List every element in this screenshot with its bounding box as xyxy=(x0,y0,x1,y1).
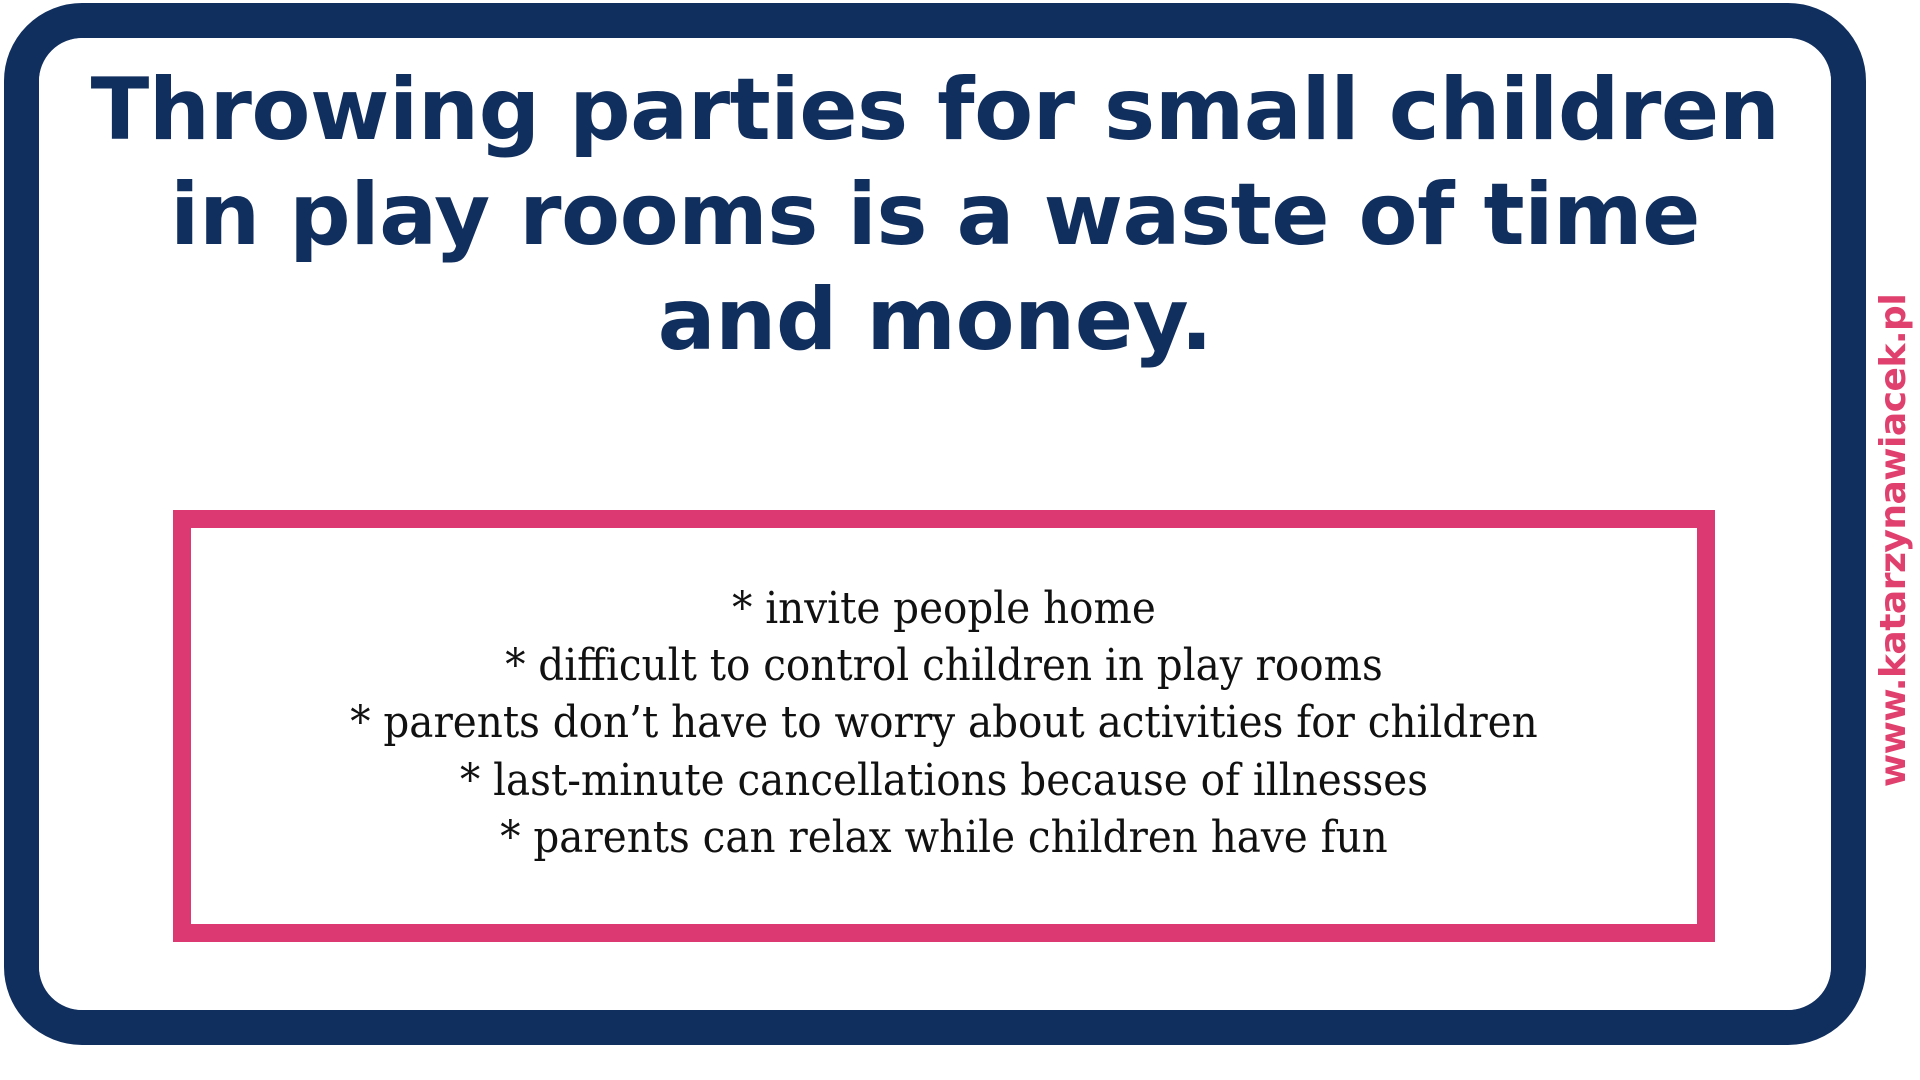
card-inner-surface: Throwing parties for small children in p… xyxy=(39,38,1831,1010)
headline-line-3: and money. xyxy=(79,268,1791,373)
list-item: * parents can relax while children have … xyxy=(264,809,1624,866)
watermark-url-text: www.katarzynawiacek.pl xyxy=(1874,293,1915,786)
navy-card-frame: Throwing parties for small children in p… xyxy=(4,3,1866,1045)
watermark: www.katarzynawiacek.pl xyxy=(1868,0,1920,1080)
page-title: Throwing parties for small children in p… xyxy=(79,58,1791,373)
pink-bordered-box: * invite people home * difficult to cont… xyxy=(173,510,1715,942)
list-item: * last-minute cancellations because of i… xyxy=(264,752,1624,809)
list-item: * invite people home xyxy=(264,580,1624,637)
bullet-list: * invite people home * difficult to cont… xyxy=(191,528,1697,924)
headline-line-1: Throwing parties for small children xyxy=(79,58,1791,163)
list-item: * parents don’t have to worry about acti… xyxy=(264,694,1624,751)
headline-line-2: in play rooms is a waste of time xyxy=(79,163,1791,268)
slide-canvas: Throwing parties for small children in p… xyxy=(0,0,1920,1080)
list-item: * difficult to control children in play … xyxy=(264,637,1624,694)
